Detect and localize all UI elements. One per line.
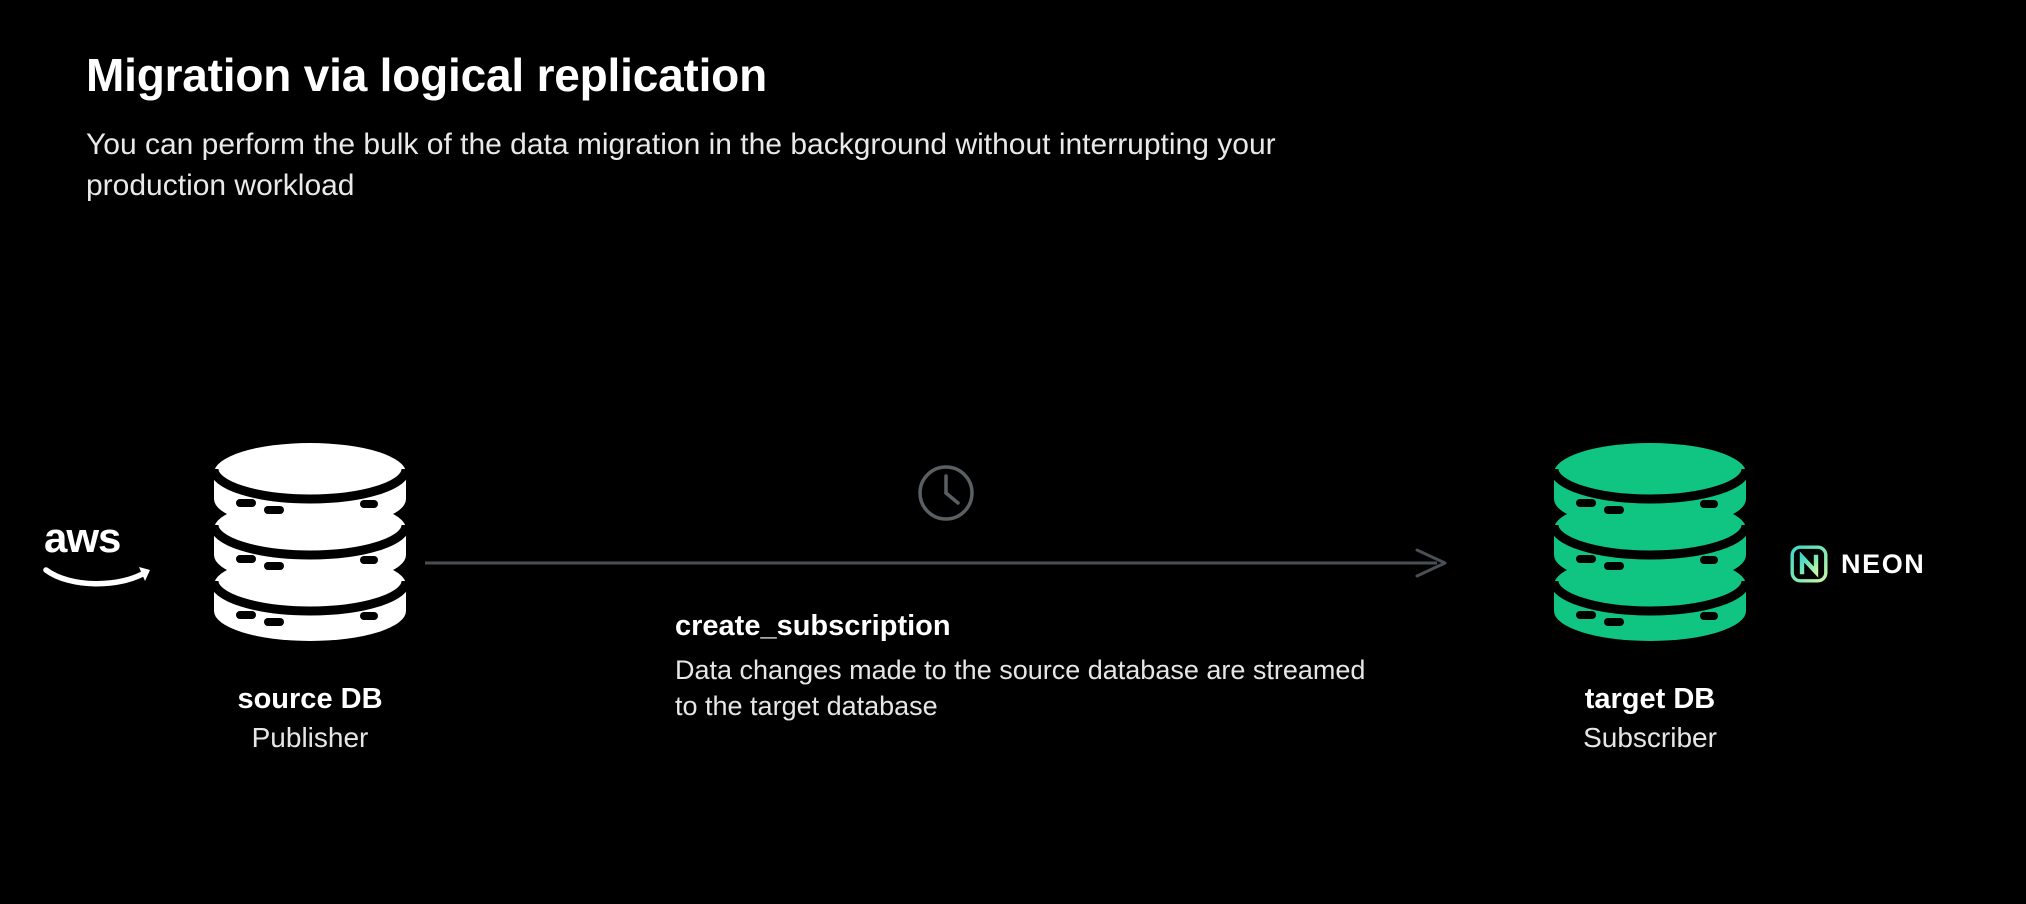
source-db-label: source DB xyxy=(160,681,460,718)
neon-mark-icon xyxy=(1790,545,1828,583)
flow-caption: create_subscription Data changes made to… xyxy=(675,608,1375,725)
source-db-node: source DB Publisher xyxy=(160,425,460,757)
target-db-label: target DB xyxy=(1500,681,1800,718)
neon-wordmark: NEON xyxy=(1841,551,1925,578)
database-cylinder-icon xyxy=(210,425,410,655)
neon-logo: NEON xyxy=(1790,545,1925,583)
source-db-sublabel: Publisher xyxy=(160,720,460,756)
database-cylinder-icon xyxy=(1550,425,1750,655)
target-db-sublabel: Subscriber xyxy=(1500,720,1800,756)
target-db-node: target DB Subscriber xyxy=(1500,425,1800,757)
flow-caption-title: create_subscription xyxy=(675,608,1375,646)
diagram-stage: aws xyxy=(0,0,2026,904)
slide-root: Migration via logical replication You ca… xyxy=(0,0,2026,904)
flow-caption-body: Data changes made to the source database… xyxy=(675,652,1375,725)
aws-logo: aws xyxy=(42,512,162,590)
svg-text:aws: aws xyxy=(44,514,120,561)
clock-icon xyxy=(915,462,977,524)
arrow-right-icon xyxy=(425,535,1455,591)
replication-arrow xyxy=(425,535,1455,591)
